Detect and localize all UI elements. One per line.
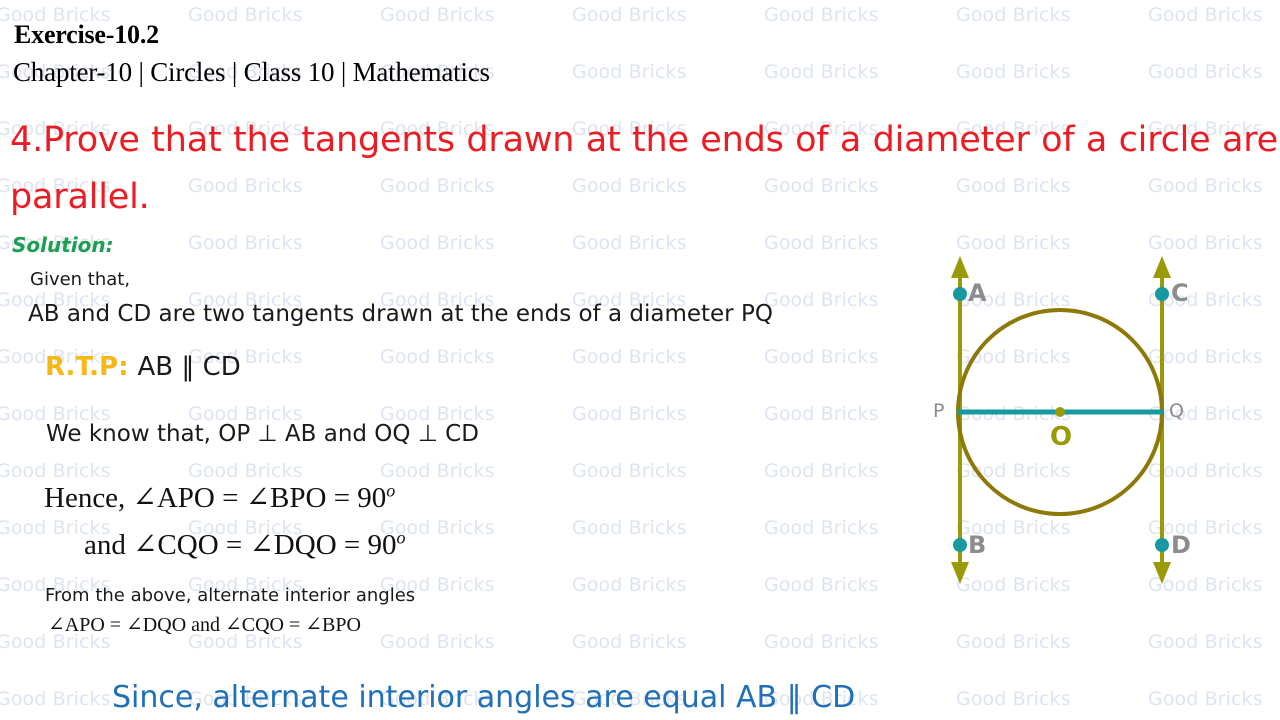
exercise-title: Exercise-10.2	[14, 20, 159, 50]
and-angle-line: and ∠CQO = ∠DQO = 90o	[84, 527, 405, 562]
center-label-o: O	[1050, 422, 1072, 452]
hence-angle-text: Hence, ∠APO = ∠BPO = 90	[44, 482, 386, 514]
from-above-line: From the above, alternate interior angle…	[45, 585, 415, 606]
point-label-a: A	[968, 279, 987, 307]
arrow-head-d-icon	[1153, 562, 1171, 584]
chapter-subtitle: Chapter-10 | Circles | Class 10 | Mathem…	[13, 57, 490, 88]
degree-symbol: o	[386, 480, 395, 500]
point-d-dot	[1155, 538, 1169, 552]
hence-angle-line: Hence, ∠APO = ∠BPO = 90o	[44, 480, 395, 515]
conclusion-line: Since, alternate interior angles are equ…	[112, 680, 855, 715]
point-label-d: D	[1171, 531, 1191, 559]
rtp-value: AB ‖ CD	[138, 352, 241, 382]
rtp-row: R.T.P:AB ‖ CD	[45, 352, 241, 382]
given-statement: AB and CD are two tangents drawn at the …	[28, 301, 773, 327]
point-b-dot	[953, 538, 967, 552]
arrow-head-a-icon	[951, 256, 969, 278]
diagram-svg	[900, 240, 1280, 600]
slide-content: Exercise-10.2 Chapter-10 | Circles | Cla…	[0, 0, 1280, 720]
point-label-b: B	[968, 531, 986, 559]
circle-tangent-diagram: A C B D P Q O	[900, 240, 1280, 600]
point-label-p: P	[933, 400, 944, 422]
alternate-angles-line: ∠APO = ∠DQO and ∠CQO = ∠BPO	[48, 612, 361, 637]
arrow-head-c-icon	[1153, 256, 1171, 278]
given-heading: Given that,	[30, 269, 130, 290]
rtp-label: R.T.P:	[45, 352, 129, 382]
center-point-o	[1055, 407, 1065, 417]
point-a-dot	[953, 287, 967, 301]
arrow-head-b-icon	[951, 562, 969, 584]
point-c-dot	[1155, 287, 1169, 301]
we-know-that-line: We know that, OP ⊥ AB and OQ ⊥ CD	[46, 421, 479, 447]
question-text: 4.Prove that the tangents drawn at the e…	[10, 112, 1278, 225]
point-label-q: Q	[1169, 400, 1184, 422]
degree-symbol: o	[397, 527, 406, 547]
point-label-c: C	[1171, 279, 1189, 307]
solution-label: Solution:	[12, 233, 114, 257]
and-angle-text: and ∠CQO = ∠DQO = 90	[84, 529, 397, 561]
